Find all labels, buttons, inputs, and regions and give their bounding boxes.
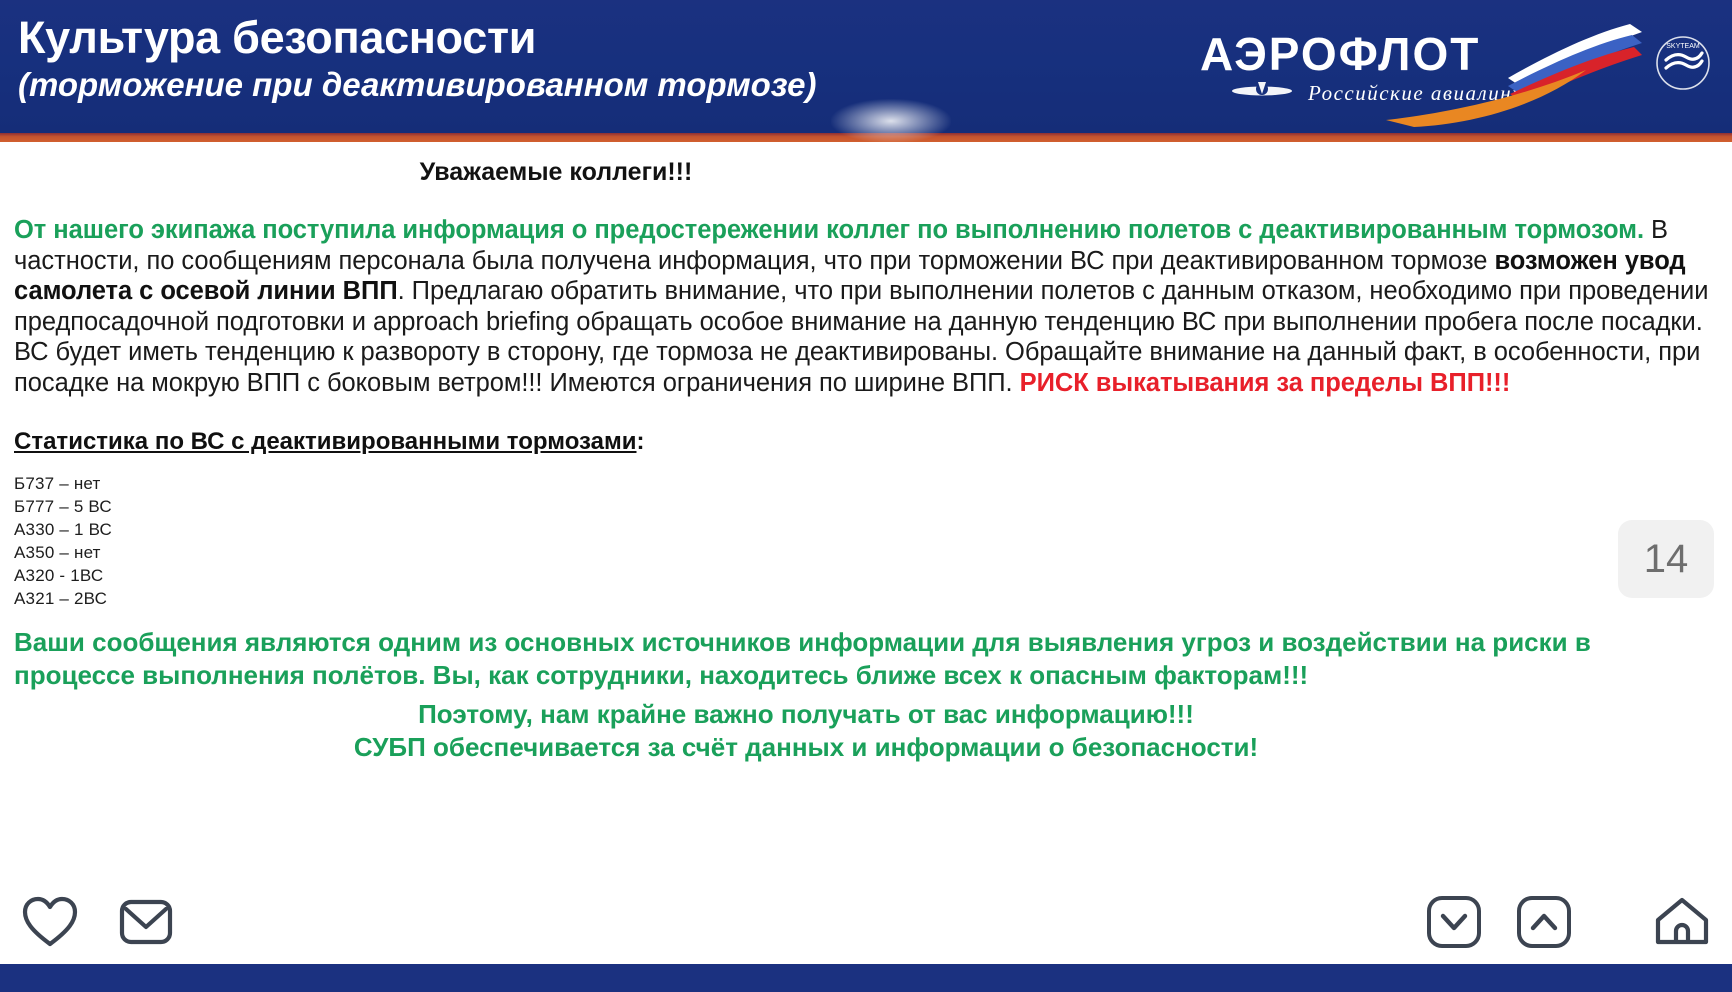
page-subtitle: (торможение при деактивированном тормозе… bbox=[18, 67, 1138, 103]
header-title-group: Культура безопасности (торможение при де… bbox=[18, 14, 1138, 103]
list-item: А321 – 2ВС bbox=[14, 587, 1718, 610]
stats-heading-colon: : bbox=[637, 428, 645, 455]
skyteam-label: SKYTEAM bbox=[1666, 43, 1700, 50]
stats-list: Б737 – нет Б777 – 5 ВС А330 – 1 ВС А350 … bbox=[14, 472, 1718, 610]
greeting-line: Уважаемые коллеги!!! bbox=[14, 158, 1718, 187]
chevron-down-icon[interactable] bbox=[1422, 890, 1486, 954]
list-item: Б737 – нет bbox=[14, 472, 1718, 495]
closing-line-2: СУБП обеспечивается за счёт данных и инф… bbox=[14, 731, 1598, 764]
home-icon[interactable] bbox=[1650, 890, 1714, 954]
list-item: А330 – 1 ВС bbox=[14, 518, 1718, 541]
list-item: Б777 – 5 ВС bbox=[14, 495, 1718, 518]
svg-text:АЭРОФЛОТ: АЭРОФЛОТ bbox=[1200, 28, 1480, 80]
heart-icon[interactable] bbox=[18, 890, 82, 954]
slide-content: Уважаемые коллеги!!! От нашего экипажа п… bbox=[0, 142, 1732, 992]
intro-red-warning: РИСК выкатывания за пределы ВПП!!! bbox=[1020, 369, 1511, 397]
closing-paragraph: Ваши сообщения являются одним из основны… bbox=[14, 626, 1718, 692]
stats-heading: Статистика по ВС с деактивированными тор… bbox=[14, 428, 637, 456]
wing-emblem-icon bbox=[1232, 82, 1292, 96]
list-item: А350 – нет bbox=[14, 541, 1718, 564]
envelope-icon[interactable] bbox=[114, 890, 178, 954]
bottom-toolbar bbox=[0, 880, 1732, 964]
intro-green-lead: От нашего экипажа поступила информация о… bbox=[14, 216, 1644, 244]
skyteam-logo-icon: SKYTEAM bbox=[1657, 37, 1709, 89]
footer-bar bbox=[0, 964, 1732, 992]
toolbar-right-group bbox=[1422, 890, 1714, 954]
slide-header: Культура безопасности (торможение при де… bbox=[0, 0, 1732, 133]
closing-centered-block: Поэтому, нам крайне важно получать от ва… bbox=[14, 698, 1718, 764]
stats-heading-row: Статистика по ВС с деактивированными тор… bbox=[14, 398, 1718, 456]
page-title: Культура безопасности bbox=[18, 14, 1138, 63]
slide-viewer: Культура безопасности (торможение при де… bbox=[0, 0, 1732, 992]
chevron-up-icon[interactable] bbox=[1512, 890, 1576, 954]
intro-paragraph: От нашего экипажа поступила информация о… bbox=[14, 215, 1718, 398]
list-item: А320 - 1ВС bbox=[14, 564, 1718, 587]
page-number-badge: 14 bbox=[1618, 520, 1714, 598]
toolbar-left-group bbox=[18, 890, 178, 954]
aeroflot-logo: АЭРОФЛОТ Российские авиалинии bbox=[1190, 8, 1720, 128]
closing-line-1: Поэтому, нам крайне важно получать от ва… bbox=[14, 698, 1598, 731]
header-divider-rule bbox=[0, 133, 1732, 142]
